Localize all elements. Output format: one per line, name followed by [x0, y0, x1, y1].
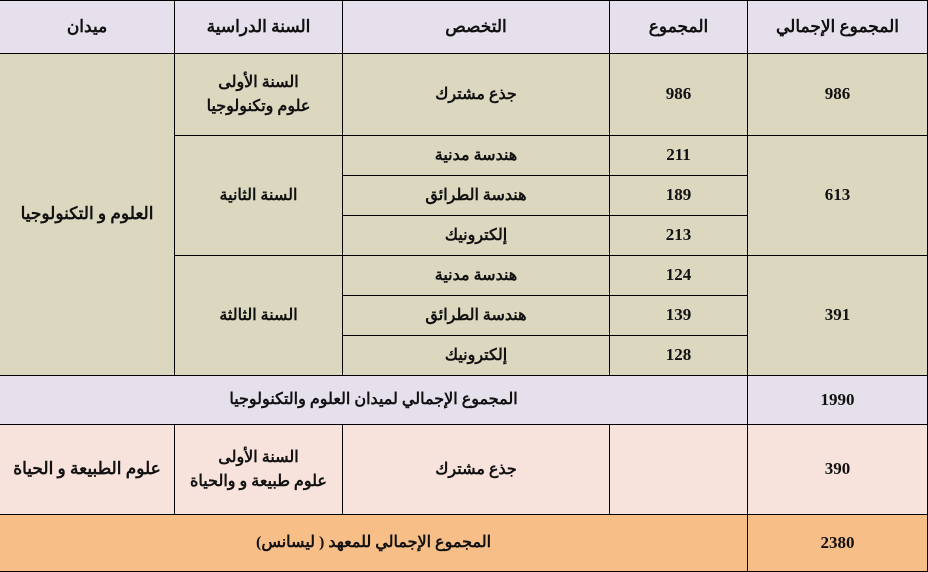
domain-total-value: 1990 [748, 376, 928, 425]
enrollment-statistics-table: المجموع الإجمالي المجموع التخصص السنة ال… [0, 0, 928, 572]
grand-total-snv-year1: 390 [748, 425, 928, 515]
column-header-domain: ميدان [0, 1, 175, 54]
grand-total-st-year3: 391 [748, 256, 928, 376]
academic-year-snv-year1: السنة الأولى علوم طبيعة و والحياة [175, 425, 343, 515]
academic-year-st-year2: السنة الثانية [175, 136, 343, 256]
column-header-grand-total: المجموع الإجمالي [748, 1, 928, 54]
column-header-specialty: التخصص [343, 1, 610, 54]
subtotal-snv-year1-common [610, 425, 748, 515]
table-header-row: المجموع الإجمالي المجموع التخصص السنة ال… [0, 1, 928, 54]
specialty-st-year3-civil-engineering: هندسة مدنية [343, 256, 610, 296]
grand-total-st-year2: 613 [748, 136, 928, 256]
specialty-st-year3-electronics: إلكترونيك [343, 336, 610, 376]
institute-grand-total-row: 2380 المجموع الإجمالي للمعهد ( ليسانس) [0, 515, 928, 572]
domain-natural-life-sciences: علوم الطبيعة و الحياة [0, 425, 175, 515]
institute-grand-total-label: المجموع الإجمالي للمعهد ( ليسانس) [0, 515, 748, 572]
academic-year-st-year3: السنة الثالثة [175, 256, 343, 376]
domain-science-technology: العلوم و التكنولوجيا [0, 54, 175, 376]
specialty-st-year2-civil-engineering: هندسة مدنية [343, 136, 610, 176]
domain-total-label: المجموع الإجمالي لميدان العلوم والتكنولو… [0, 376, 748, 425]
specialty-st-year2-electronics: إلكترونيك [343, 216, 610, 256]
subtotal-st-year3-civil-engineering: 124 [610, 256, 748, 296]
column-header-academic-year: السنة الدراسية [175, 1, 343, 54]
specialty-st-year1-common: جذع مشترك [343, 54, 610, 136]
subtotal-st-year3-process-engineering: 139 [610, 296, 748, 336]
specialty-snv-year1-common: جذع مشترك [343, 425, 610, 515]
subtotal-st-year2-process-engineering: 189 [610, 176, 748, 216]
table-row: 390 جذع مشترك السنة الأولى علوم طبيعة و … [0, 425, 928, 515]
table-row: 986 986 جذع مشترك السنة الأولى علوم وتكن… [0, 54, 928, 136]
subtotal-st-year1-common: 986 [610, 54, 748, 136]
grand-total-st-year1: 986 [748, 54, 928, 136]
institute-grand-total-value: 2380 [748, 515, 928, 572]
subtotal-st-year2-civil-engineering: 211 [610, 136, 748, 176]
academic-year-st-year1: السنة الأولى علوم وتكنولوجيا [175, 54, 343, 136]
subtotal-st-year2-electronics: 213 [610, 216, 748, 256]
specialty-st-year3-process-engineering: هندسة الطرائق [343, 296, 610, 336]
column-header-subtotal: المجموع [610, 1, 748, 54]
domain-total-row: 1990 المجموع الإجمالي لميدان العلوم والت… [0, 376, 928, 425]
subtotal-st-year3-electronics: 128 [610, 336, 748, 376]
specialty-st-year2-process-engineering: هندسة الطرائق [343, 176, 610, 216]
